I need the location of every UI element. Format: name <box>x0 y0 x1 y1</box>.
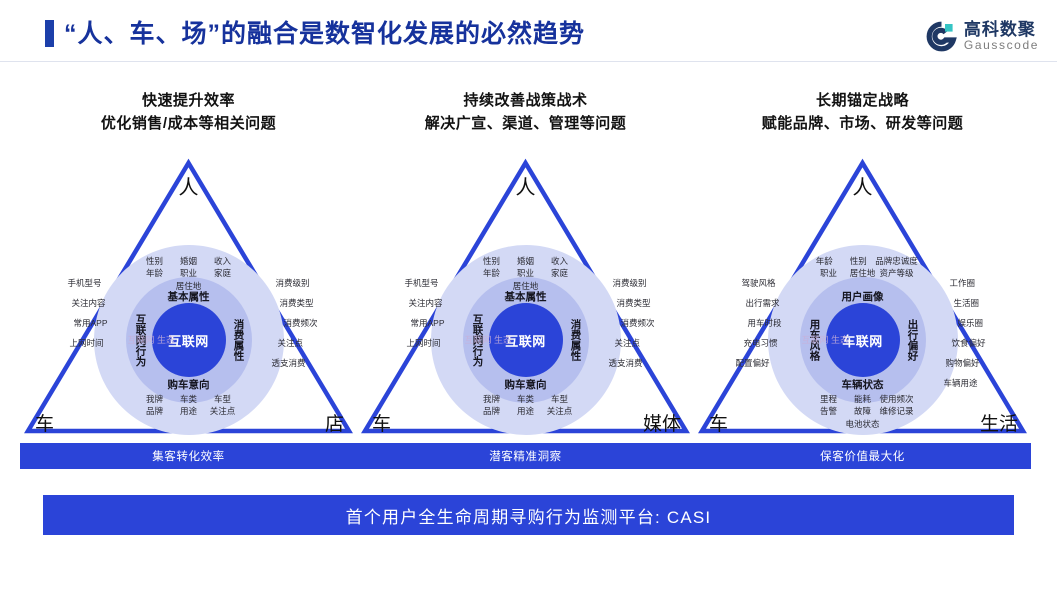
outer-ring-labels-left: 手机型号关注内容常用APP上网时间 <box>389 279 445 359</box>
outer-label: 用途 <box>172 405 206 417</box>
concentric-rings: 互联网基本属性购车意向互联网行为消费属性性别婚姻收入年龄职业家庭居住地我牌车类车… <box>94 245 284 435</box>
outer-label-row: 性别婚姻收入 <box>80 255 298 267</box>
outer-ring-labels-bottom: 我牌车类车型品牌用途关注点 <box>417 393 635 418</box>
outer-label: 资产等级 <box>879 267 913 279</box>
outer-ring-labels-top: 年龄性别品牌忠诚度职业居住地资产等级 <box>754 255 972 280</box>
outer-label: 上网时间 <box>389 339 445 359</box>
outer-label-row: 年龄性别品牌忠诚度 <box>754 255 972 267</box>
outer-label: 性别 <box>475 255 509 267</box>
outer-label-row: 居住地 <box>417 280 635 292</box>
platform-footer-bar: 首个用户全生命周期寻购行为监测平台: CASI <box>43 495 1014 535</box>
mid-ring-label-right: 出行偏好 <box>906 319 921 361</box>
ring-core: 互联网 <box>489 303 563 377</box>
outer-ring-labels-right: 工作圈生活圈娱乐圈饮食偏好购物偏好车辆用途 <box>944 279 1000 399</box>
outer-label-row: 我牌车类车型 <box>417 393 635 405</box>
triangle-vertex-left: 车 <box>35 409 54 436</box>
triangle-diagram: 人车生活车联网用户画像车辆状态用车风格出行偏好年龄性别品牌忠诚度职业居住地资产等… <box>694 149 1031 437</box>
column-outcome-bar: 潜客精准洞察 <box>357 443 694 469</box>
outer-label: 性别 <box>841 255 875 267</box>
column-outcome-label: 集客转化效率 <box>152 448 225 464</box>
outer-label: 工作圈 <box>944 279 1000 299</box>
column-outcome-bar: 集客转化效率 <box>20 443 357 469</box>
platform-footer-label: 首个用户全生命周期寻购行为监测平台: CASI <box>346 503 712 528</box>
triangle-vertex-right: 媒体 <box>643 409 681 436</box>
column-outcome-label: 潜客精准洞察 <box>489 448 562 464</box>
outer-label: 车辆用途 <box>944 379 1000 399</box>
outer-label-row: 年龄职业家庭 <box>80 267 298 279</box>
outer-label: 常用APP <box>389 319 445 339</box>
concentric-rings: 互联网基本属性购车意向互联网行为消费属性性别婚姻收入年龄职业家庭居住地我牌车类车… <box>431 245 621 435</box>
header-divider <box>0 61 1057 62</box>
outer-ring-labels-top: 性别婚姻收入年龄职业家庭居住地 <box>417 255 635 292</box>
outer-label: 上网时间 <box>52 339 108 359</box>
column-outcome-label: 保客价值最大化 <box>820 448 905 464</box>
outer-ring-labels-top: 性别婚姻收入年龄职业家庭居住地 <box>80 255 298 292</box>
triangle-vertex-left: 车 <box>709 409 728 436</box>
outer-label: 职业 <box>811 267 845 279</box>
outer-label: 收入 <box>543 255 577 267</box>
ring-core: 互联网 <box>152 303 226 377</box>
outer-label: 家庭 <box>206 267 240 279</box>
outer-label: 娱乐圈 <box>944 319 1000 339</box>
outer-label: 消费频次 <box>270 319 326 339</box>
outer-label: 车类 <box>509 393 543 405</box>
outer-label-row: 告警故障维修记录 <box>754 405 972 417</box>
outer-label: 透支消费 <box>607 359 663 379</box>
outer-label: 透支消费 <box>270 359 326 379</box>
outer-label: 用车时段 <box>726 319 782 339</box>
page-header: “人、车、场”的融合是数智化发展的必然趋势 高科数聚 Gausscode <box>0 0 1057 62</box>
ring-core: 车联网 <box>826 303 900 377</box>
outer-label: 职业 <box>509 267 543 279</box>
mid-ring-label-top: 用户画像 <box>768 289 958 304</box>
outer-label: 品牌忠诚度 <box>875 255 918 267</box>
outer-label: 配置偏好 <box>726 359 782 379</box>
outer-ring-labels-left: 手机型号关注内容常用APP上网时间 <box>52 279 108 359</box>
outer-label: 饮食偏好 <box>944 339 1000 359</box>
outer-label: 常用APP <box>52 319 108 339</box>
outer-label: 我牌 <box>138 393 172 405</box>
outer-ring-labels-right: 消费级别消费类型消费频次关注点透支消费 <box>270 279 326 379</box>
column-heading-line1: 快速提升效率 <box>20 90 357 113</box>
column-heading-line2: 解决广宣、渠道、管理等问题 <box>357 113 694 136</box>
outer-label: 关注点 <box>206 405 240 417</box>
logo-wordmark: 高科数聚 Gausscode <box>964 21 1039 51</box>
outer-label: 车型 <box>543 393 577 405</box>
outer-label-row: 性别婚姻收入 <box>417 255 635 267</box>
outer-label: 生活圈 <box>944 299 1000 319</box>
outer-label-row: 我牌车类车型 <box>80 393 298 405</box>
panel-column: 持续改善战策战术解决广宣、渠道、管理等问题人车媒体互联网基本属性购车意向互联网行… <box>357 90 694 469</box>
ring-core-label: 互联网 <box>505 331 546 350</box>
outer-label: 车型 <box>206 393 240 405</box>
triangle-diagram: 人车媒体互联网基本属性购车意向互联网行为消费属性性别婚姻收入年龄职业家庭居住地我… <box>357 149 694 437</box>
outer-ring-labels-right: 消费级别消费类型消费频次关注点透支消费 <box>607 279 663 379</box>
logo-name-en: Gausscode <box>964 39 1039 52</box>
outer-label: 居住地 <box>509 280 543 292</box>
outer-label-row: 品牌用途关注点 <box>417 405 635 417</box>
mid-ring-label-bottom: 购车意向 <box>94 377 284 392</box>
outer-label: 家庭 <box>543 267 577 279</box>
triangle-vertex-left: 车 <box>372 409 391 436</box>
column-heading: 快速提升效率优化销售/成本等相关问题 <box>20 90 357 135</box>
outer-label: 消费级别 <box>607 279 663 299</box>
outer-label: 品牌 <box>475 405 509 417</box>
concentric-rings: 车联网用户画像车辆状态用车风格出行偏好年龄性别品牌忠诚度职业居住地资产等级里程能… <box>768 245 958 435</box>
outer-label: 使用频次 <box>879 393 913 405</box>
outer-label: 消费级别 <box>270 279 326 299</box>
outer-label: 居住地 <box>172 280 206 292</box>
column-heading-line1: 长期锚定战略 <box>694 90 1031 113</box>
triangle-vertex-top: 人 <box>516 171 536 200</box>
outer-label: 年龄 <box>138 267 172 279</box>
outer-label: 我牌 <box>475 393 509 405</box>
ring-core-label: 互联网 <box>168 331 209 350</box>
outer-label-row: 品牌用途关注点 <box>80 405 298 417</box>
triangle-vertex-top: 人 <box>853 171 873 200</box>
outer-label: 驾驶风格 <box>726 279 782 299</box>
outer-label: 里程 <box>811 393 845 405</box>
outer-ring-labels-left: 驾驶风格出行需求用车时段充电习惯配置偏好 <box>726 279 782 379</box>
outer-label: 车类 <box>172 393 206 405</box>
ring-core-label: 车联网 <box>842 331 883 350</box>
logo-name-cn: 高科数聚 <box>964 21 1039 39</box>
outer-label: 品牌 <box>138 405 172 417</box>
outer-label: 关注点 <box>543 405 577 417</box>
mid-ring-label-left: 用车风格 <box>808 319 823 361</box>
outer-label: 手机型号 <box>52 279 108 299</box>
outer-label-row: 居住地 <box>80 280 298 292</box>
outer-label: 消费类型 <box>607 299 663 319</box>
outer-label: 婚姻 <box>172 255 206 267</box>
outer-label: 消费频次 <box>607 319 663 339</box>
outer-label: 收入 <box>206 255 240 267</box>
outer-label: 性别 <box>138 255 172 267</box>
outer-label: 关注点 <box>607 339 663 359</box>
mid-ring-label-right: 消费属性 <box>232 319 247 361</box>
triangle-vertex-right: 生活 <box>980 409 1018 436</box>
outer-label: 年龄 <box>475 267 509 279</box>
outer-label: 能耗 <box>845 393 879 405</box>
outer-label: 故障 <box>845 405 879 417</box>
outer-label-row: 职业居住地资产等级 <box>754 267 972 279</box>
outer-ring-labels-bottom: 里程能耗使用频次告警故障维修记录电池状态 <box>754 393 972 430</box>
outer-label-row: 电池状态 <box>754 418 972 430</box>
gausscode-logo-mark-icon <box>926 21 957 52</box>
outer-ring-labels-bottom: 我牌车类车型品牌用途关注点 <box>80 393 298 418</box>
panel-column: 长期锚定战略赋能品牌、市场、研发等问题人车生活车联网用户画像车辆状态用车风格出行… <box>694 90 1031 469</box>
outer-label: 关注内容 <box>389 299 445 319</box>
outer-label: 职业 <box>172 267 206 279</box>
outer-label: 关注点 <box>270 339 326 359</box>
outer-label: 购物偏好 <box>944 359 1000 379</box>
panel-column: 快速提升效率优化销售/成本等相关问题人车店互联网基本属性购车意向互联网行为消费属… <box>20 90 357 469</box>
mid-ring-label-bottom: 车辆状态 <box>768 377 958 392</box>
outer-label-row: 里程能耗使用频次 <box>754 393 972 405</box>
mid-ring-label-left: 互联网行为 <box>471 314 486 367</box>
outer-label: 电池状态 <box>845 418 879 430</box>
outer-label-row: 年龄职业家庭 <box>417 267 635 279</box>
outer-label: 年龄 <box>807 255 841 267</box>
page-title: “人、车、场”的融合是数智化发展的必然趋势 <box>64 14 585 50</box>
column-heading-line2: 赋能品牌、市场、研发等问题 <box>694 113 1031 136</box>
column-heading-line1: 持续改善战策战术 <box>357 90 694 113</box>
triangle-vertex-right: 店 <box>325 409 344 436</box>
column-outcome-bar: 保客价值最大化 <box>694 443 1031 469</box>
outer-label: 告警 <box>811 405 845 417</box>
triangle-vertex-top: 人 <box>179 171 199 200</box>
outer-label: 消费类型 <box>270 299 326 319</box>
column-heading: 持续改善战策战术解决广宣、渠道、管理等问题 <box>357 90 694 135</box>
mid-ring-label-right: 消费属性 <box>569 319 584 361</box>
outer-label: 婚姻 <box>509 255 543 267</box>
mid-ring-label-bottom: 购车意向 <box>431 377 621 392</box>
brand-logo: 高科数聚 Gausscode <box>926 16 1039 56</box>
outer-label: 手机型号 <box>389 279 445 299</box>
title-accent-bar <box>45 20 54 47</box>
triangle-diagram: 人车店互联网基本属性购车意向互联网行为消费属性性别婚姻收入年龄职业家庭居住地我牌… <box>20 149 357 437</box>
mid-ring-label-left: 互联网行为 <box>134 314 149 367</box>
outer-label: 关注内容 <box>52 299 108 319</box>
column-heading: 长期锚定战略赋能品牌、市场、研发等问题 <box>694 90 1031 135</box>
outer-label: 充电习惯 <box>726 339 782 359</box>
column-heading-line2: 优化销售/成本等相关问题 <box>20 113 357 136</box>
outer-label: 居住地 <box>845 267 879 279</box>
outer-label: 出行需求 <box>726 299 782 319</box>
outer-label: 维修记录 <box>879 405 913 417</box>
outer-label: 用途 <box>509 405 543 417</box>
